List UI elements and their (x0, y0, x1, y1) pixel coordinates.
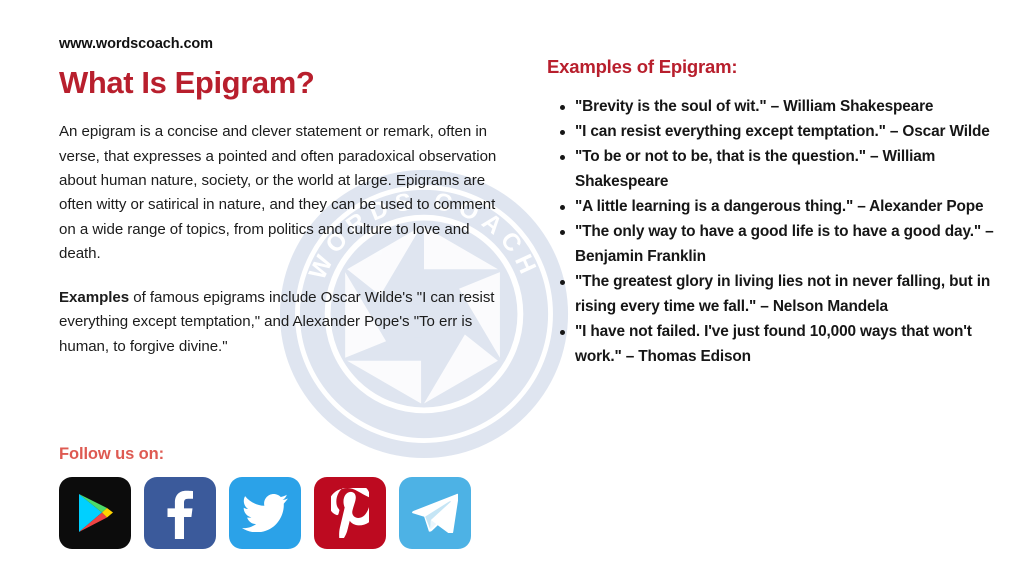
pinterest-icon[interactable] (314, 477, 386, 549)
right-column: Examples of Epigram: "Brevity is the sou… (547, 56, 997, 369)
follow-us-label: Follow us on: (59, 445, 471, 464)
social-icon-row (59, 477, 471, 549)
facebook-icon[interactable] (144, 477, 216, 549)
twitter-icon[interactable] (229, 477, 301, 549)
list-item: "To be or not to be, that is the questio… (547, 145, 997, 195)
left-column: www.wordscoach.com What Is Epigram? An e… (59, 36, 499, 359)
examples-list: "Brevity is the soul of wit." – William … (547, 95, 997, 369)
examples-section-title: Examples of Epigram: (547, 56, 997, 78)
page-title: What Is Epigram? (59, 66, 499, 100)
list-item: "I can resist everything except temptati… (547, 120, 997, 145)
examples-paragraph-lead: Examples (59, 289, 129, 306)
list-item: "Brevity is the soul of wit." – William … (547, 95, 997, 120)
examples-paragraph: Examples of famous epigrams include Osca… (59, 286, 499, 359)
google-play-icon[interactable] (59, 477, 131, 549)
site-url: www.wordscoach.com (59, 36, 499, 52)
poster-canvas: D WORDS COACH www.wordscoach.com What Is… (0, 0, 1024, 576)
list-item: "A little learning is a dangerous thing.… (547, 195, 997, 220)
follow-us-block: Follow us on: (59, 445, 471, 549)
list-item: "The only way to have a good life is to … (547, 220, 997, 270)
list-item: "I have not failed. I've just found 10,0… (547, 320, 997, 370)
list-item: "The greatest glory in living lies not i… (547, 270, 997, 320)
telegram-icon[interactable] (399, 477, 471, 549)
definition-paragraph: An epigram is a concise and clever state… (59, 120, 499, 267)
